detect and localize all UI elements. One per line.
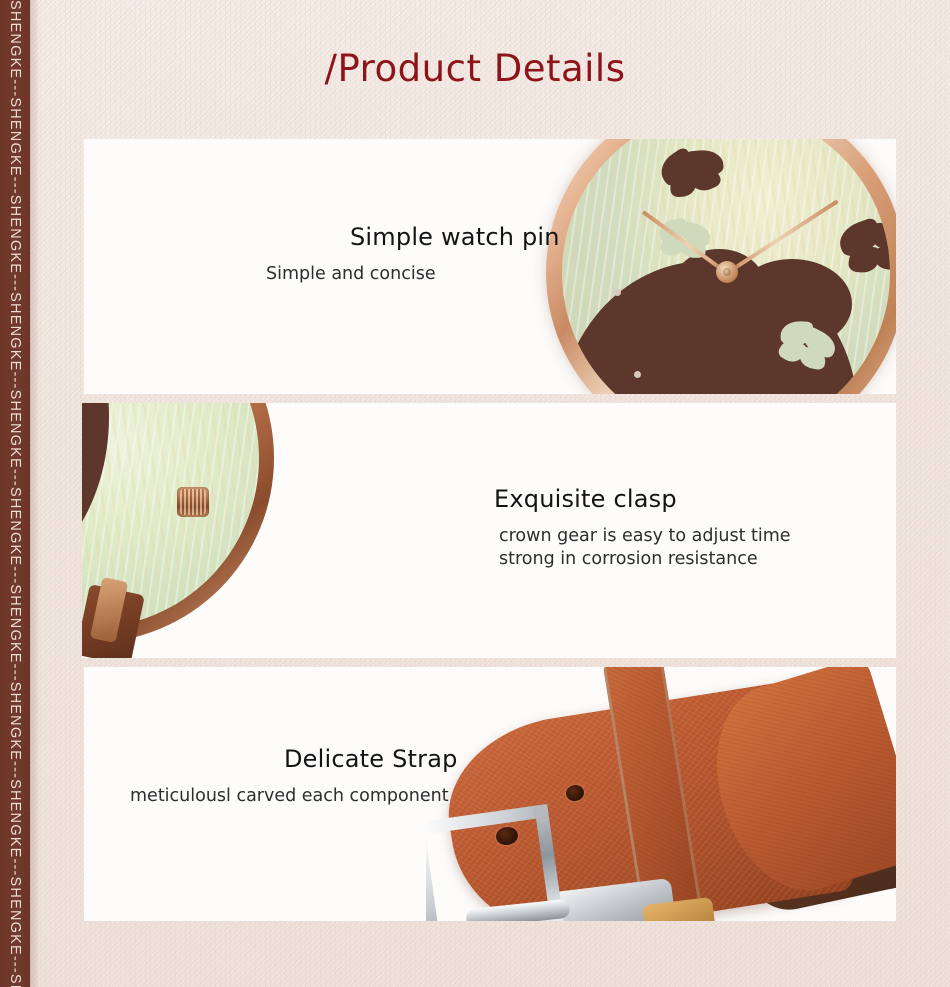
detail-panel-delicate-strap: Delicate Strap meticulousl carved each c…: [84, 667, 896, 921]
watch-case: SK SHENGKE: [546, 139, 896, 394]
panel-3-heading: Delicate Strap: [130, 745, 458, 773]
butterfly-icon: [837, 217, 890, 283]
detail-panel-exquisite-clasp: Exquisite clasp crown gear is easy to ad…: [82, 403, 896, 658]
detail-panel-simple-watch-pin: SK SHENGKE Simple watch pin Simple and c…: [84, 139, 896, 394]
dial-logo-name: SHENGKE: [708, 139, 798, 141]
brand-side-band-text: SHENGKE---SHENGKE---SHENGKE---SHENGKE---…: [0, 0, 30, 987]
panel-2-subtitle-line-2: strong in corrosion resistance: [494, 548, 791, 571]
panel-3-text-block: Delicate Strap meticulousl carved each c…: [130, 745, 458, 808]
watch-crown-image: [82, 403, 372, 658]
watch-crown: [177, 487, 209, 517]
page-title: /Product Details: [0, 47, 950, 90]
watch-hand-hub: [716, 261, 738, 283]
dial-brand-logo: SK SHENGKE: [708, 139, 798, 141]
panel-2-heading: Exquisite clasp: [494, 485, 791, 513]
panel-2-subtitle-line-1: crown gear is easy to adjust time: [494, 525, 791, 548]
watch-dial: SK SHENGKE: [562, 139, 890, 394]
leather-strap-image: [426, 667, 896, 921]
panel-3-subtitle: meticulousl carved each component: [130, 785, 458, 808]
panel-1-heading: Simple watch pin: [266, 223, 560, 251]
side-band-shadow: [30, 0, 40, 987]
panel-2-text-block: Exquisite clasp crown gear is easy to ad…: [494, 485, 791, 571]
panel-1-subtitle: Simple and concise: [266, 263, 560, 286]
watch-dial-image: SK SHENGKE: [526, 139, 896, 394]
panel-1-text-block: Simple watch pin Simple and concise: [266, 223, 560, 286]
brand-side-band: SHENGKE---SHENGKE---SHENGKE---SHENGKE---…: [0, 0, 30, 987]
dial-marker-dot: [634, 371, 641, 378]
dial-marker-dot: [614, 289, 621, 296]
